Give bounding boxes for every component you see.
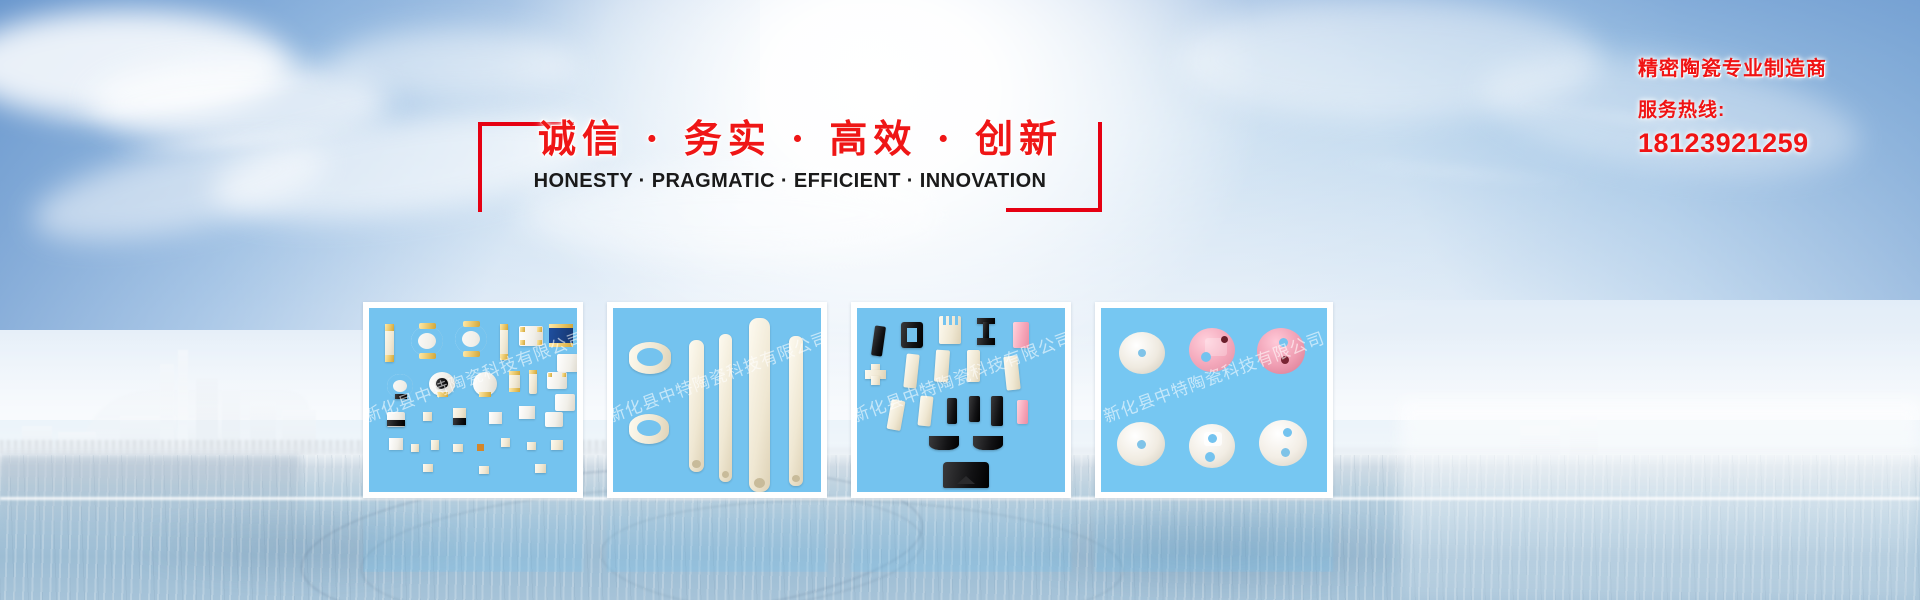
product-panel-3[interactable]: 新化县中特陶瓷科技有限公司 [851,302,1071,498]
slogan-chinese: 诚信 · 务实 · 高效 · 创新 [538,108,1042,163]
panel-image-ceramic-discs: 新化县中特陶瓷科技有限公司 [1101,308,1327,492]
panel-image-smd-chips: 新化县中特陶瓷科技有限公司 [369,308,577,492]
panel-watermark: 新化县中特陶瓷科技有限公司 [857,324,1065,427]
product-panel-1[interactable]: 新化县中特陶瓷科技有限公司 [363,302,583,498]
panel-image-ceramic-blocks: 新化县中特陶瓷科技有限公司 [857,308,1065,492]
slogan-english: HONESTY · PRAGMATIC · EFFICIENT · INNOVA… [518,170,1062,193]
cloud-shape [330,30,580,100]
product-panel-4[interactable]: 新化县中特陶瓷科技有限公司 [1095,302,1333,498]
product-gallery: 新化县中特陶瓷科技有限公司 新化县中特陶瓷科技有限公司 [363,302,1558,498]
panel-image-ceramic-tubes: 新化县中特陶瓷科技有限公司 [613,308,821,492]
slogan-block: 诚信 · 务实 · 高效 · 创新 HONESTY · PRAGMATIC · … [478,108,1102,200]
hotline-number[interactable]: 18123921259 [1638,128,1898,159]
hotline-label: 服务热线: [1638,95,1898,122]
product-panel-2[interactable]: 新化县中特陶瓷科技有限公司 [607,302,827,498]
wet-patch [1000,500,1420,600]
company-tagline: 精密陶瓷专业制造商 [1638,52,1898,81]
contact-block: 精密陶瓷专业制造商 服务热线: 18123921259 [1638,52,1898,159]
promo-banner: 诚信 · 务实 · 高效 · 创新 HONESTY · PRAGMATIC · … [0,0,1920,600]
wet-patch [120,500,480,590]
